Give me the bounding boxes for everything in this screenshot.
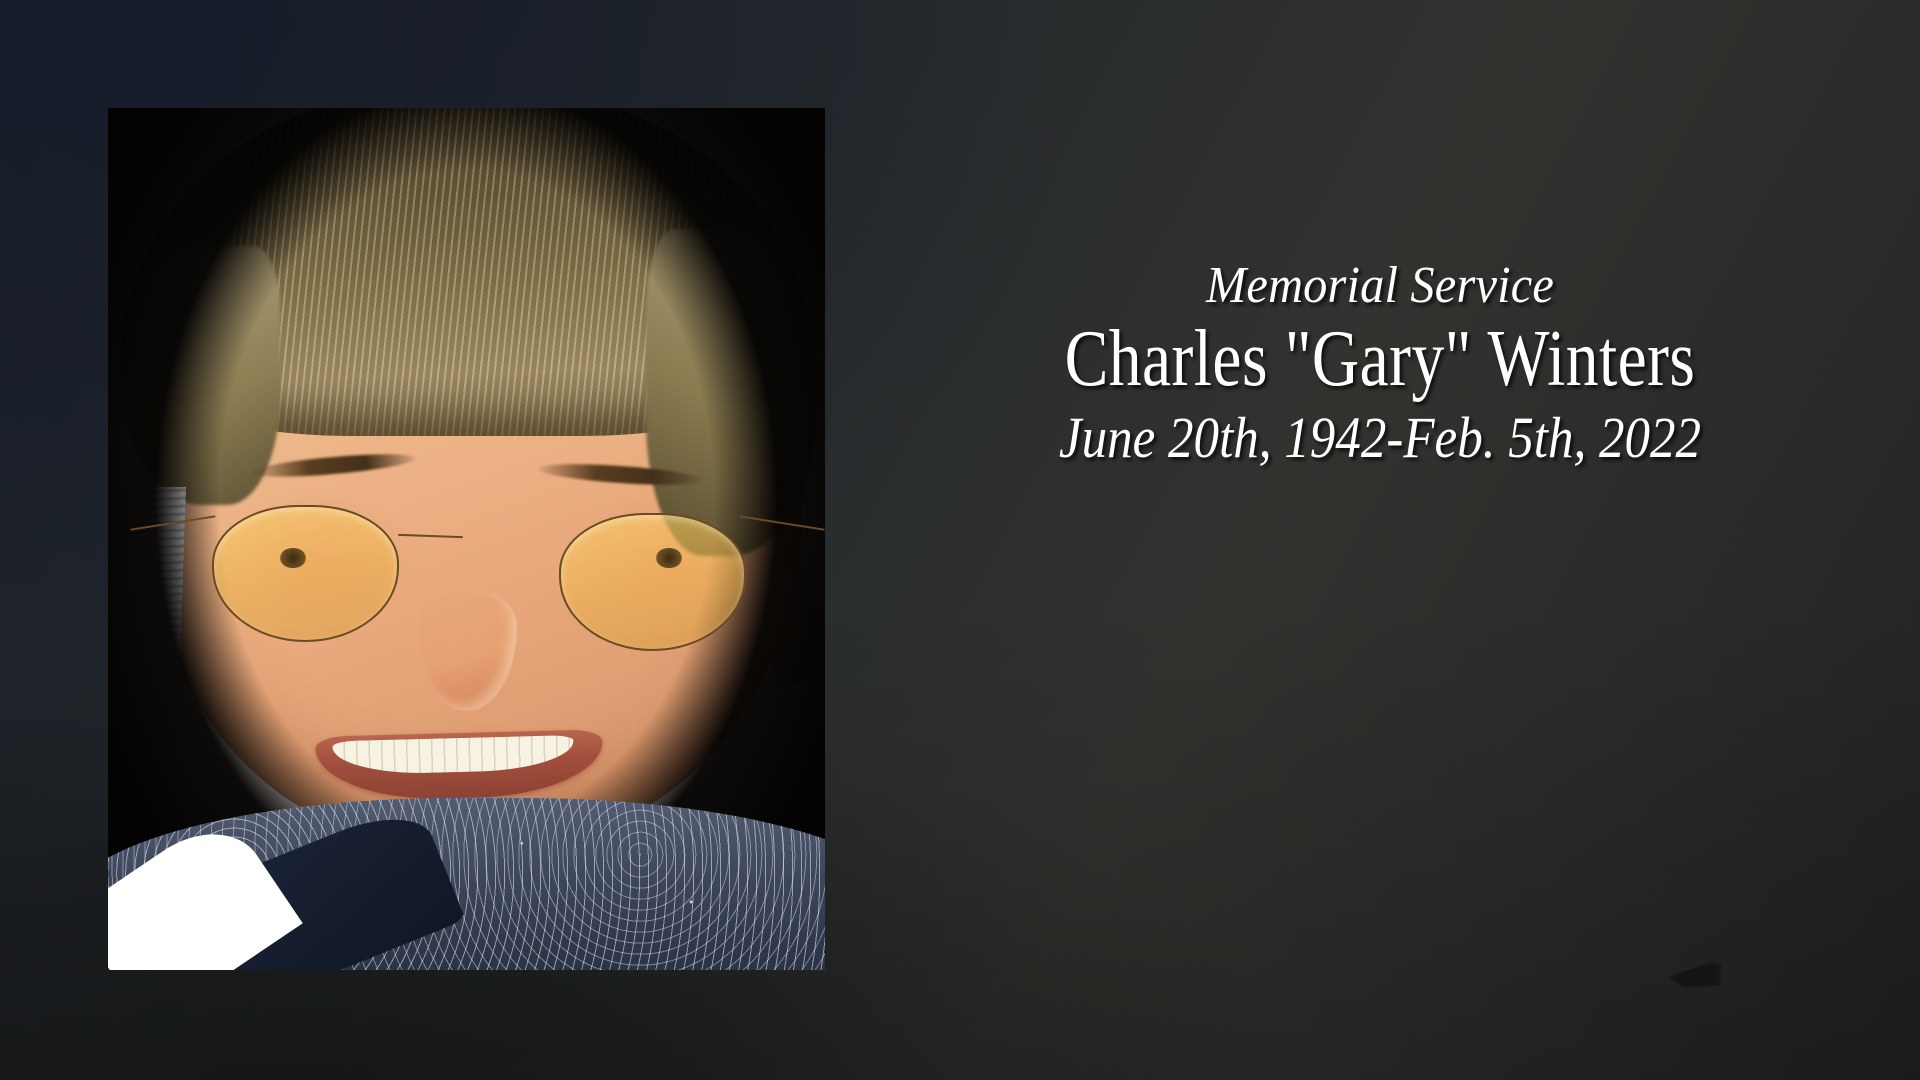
memorial-slide: Memorial Service Charles "Gary" Winters …	[0, 0, 1920, 1080]
memorial-text-block: Memorial Service Charles "Gary" Winters …	[900, 258, 1860, 469]
eyeglass-temple-left	[130, 515, 215, 531]
eyeglass-temple-right	[739, 515, 824, 531]
portrait-eye-right	[656, 548, 682, 569]
life-dates: June 20th, 1942-Feb. 5th, 2022	[958, 407, 1803, 470]
deceased-name: Charles "Gary" Winters	[986, 316, 1773, 402]
eyeglass-bridge	[398, 534, 463, 538]
portrait-photo	[108, 108, 825, 970]
stray-dark-mark	[1668, 962, 1722, 988]
eyeglass-lens-left	[212, 505, 399, 643]
eyeglass-lens-right	[559, 513, 746, 651]
service-label: Memorial Service	[934, 258, 1827, 314]
portrait-canvas	[108, 108, 825, 970]
portrait-eye-left	[280, 548, 306, 569]
portrait-teeth	[332, 735, 574, 775]
